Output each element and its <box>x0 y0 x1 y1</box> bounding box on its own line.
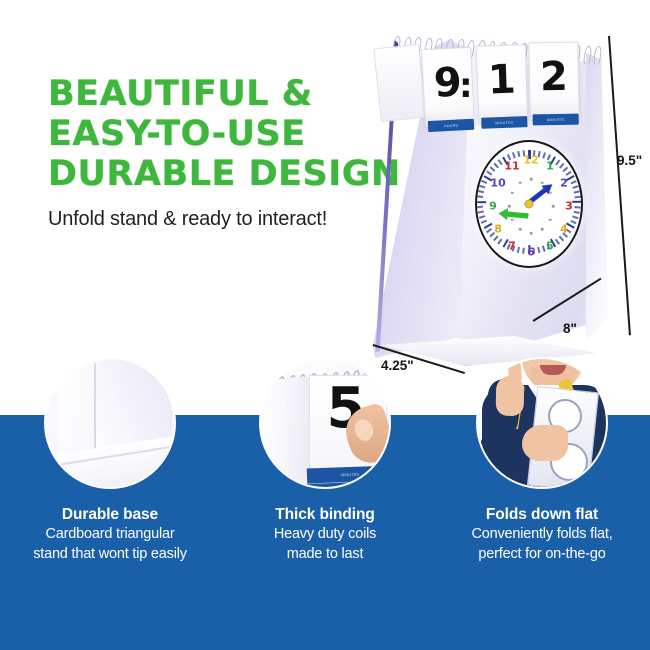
flip-card-blank <box>373 44 426 122</box>
feature-image-thick-binding: 5 MINUTES MINUTES <box>259 357 391 489</box>
top-white-panel: BEAUTIFUL & EASY-TO-USE DURABLE DESIGN U… <box>0 0 650 415</box>
headline-block: BEAUTIFUL & EASY-TO-USE DURABLE DESIGN <box>48 74 378 194</box>
clock-center-pin <box>525 200 534 209</box>
clock-minute-tick <box>574 211 580 214</box>
clock-inner-dot <box>519 181 522 184</box>
feature-thick-binding: 5 MINUTES MINUTES Thick binding Heavy du… <box>217 415 433 650</box>
feature-title: Durable base <box>2 505 218 525</box>
clock-minute-tick <box>477 196 483 198</box>
clock-minute-tick <box>559 163 564 169</box>
clock-number-10: 10 <box>490 178 505 189</box>
clock-inner-dot <box>549 218 552 221</box>
clock-minute-hand[interactable] <box>498 207 529 222</box>
clock-minute-tick <box>490 167 496 172</box>
clock-minute-tick <box>498 159 503 165</box>
feature-caption-durable-base: Durable base Cardboard triangular stand … <box>2 505 218 564</box>
clock-number-2: 2 <box>560 178 568 189</box>
clock-number-1: 1 <box>546 161 554 172</box>
clock-minute-tick <box>566 171 572 176</box>
clock-minute-tick <box>538 247 541 253</box>
feature-image-durable-base <box>44 357 176 489</box>
clock-minute-tick <box>572 201 581 203</box>
flip-card-minute-tens[interactable]: 1 MINUTES <box>476 44 529 124</box>
clock-number-8: 8 <box>494 224 502 235</box>
clock-inner-dot <box>511 191 514 194</box>
clock-minute-tick <box>542 152 545 158</box>
clock-number-4: 4 <box>560 224 568 235</box>
flip-card-tab-lower: MINUTES <box>287 481 383 489</box>
clock-inner-dot <box>508 205 511 208</box>
clock-minute-tick <box>523 248 525 254</box>
clock-number-3: 3 <box>565 201 573 212</box>
clock-minute-tick <box>571 220 577 224</box>
clock-minute-tick <box>571 180 577 184</box>
dimension-depth-label: 8" <box>563 321 577 336</box>
subheadline: Unfold stand & ready to interact! <box>48 208 327 231</box>
feature-body-line-1: Heavy duty coils <box>217 525 433 545</box>
clock-inner-dot <box>541 181 544 184</box>
clock-inner-dot <box>549 191 552 194</box>
clock-minute-tick <box>478 190 484 193</box>
headline-line-3: DURABLE DESIGN <box>48 154 378 194</box>
feature-body-line-2: perfect for on-the-go <box>434 545 650 565</box>
flip-card-minute-tens-tab: MINUTES <box>481 116 527 129</box>
feature-image-folds-flat <box>476 357 608 489</box>
clock-inner-dot <box>541 228 544 231</box>
feature-caption-folds-flat: Folds down flat Conveniently folds flat,… <box>434 505 650 564</box>
thumbs-up-icon <box>507 360 522 385</box>
clock-minute-tick <box>559 236 564 242</box>
clock-inner-dot <box>552 205 555 208</box>
clock-minute-tick <box>494 236 499 242</box>
clock-minute-tick <box>486 171 492 176</box>
clock-inner-dot <box>530 178 533 181</box>
clock-minute-tick <box>477 201 486 203</box>
clock-minute-tick <box>555 239 560 245</box>
clock-colon: : <box>459 66 473 106</box>
clock-minute-tick <box>494 163 499 169</box>
analog-clock-face[interactable]: 121234567891011 <box>475 140 583 268</box>
clock-minute-tick <box>573 215 579 218</box>
child-hand-holding <box>522 425 568 461</box>
clock-minute-tick <box>575 196 581 198</box>
feature-caption-thick-binding: Thick binding Heavy duty coils made to l… <box>217 505 433 564</box>
clock-minute-tick <box>574 190 580 193</box>
clock-minute-tick <box>478 211 484 214</box>
clock-minute-tick <box>517 151 520 157</box>
clock-minute-tick <box>498 239 503 245</box>
feature-body-line-1: Cardboard triangular <box>2 525 218 545</box>
feature-durable-base: Durable base Cardboard triangular stand … <box>2 415 218 650</box>
clock-minute-tick <box>477 206 483 208</box>
flip-card-row: 9 HOURS : 1 MINUTES 2 MINUTES <box>401 44 609 130</box>
clock-number-12: 12 <box>523 155 538 166</box>
headline-line-2: EASY-TO-USE <box>48 114 378 154</box>
feature-body-line-2: stand that wont tip easily <box>2 545 218 565</box>
clock-number-5: 5 <box>546 240 554 251</box>
clock-inner-dot <box>511 218 514 221</box>
clock-number-6: 6 <box>527 247 535 258</box>
clock-inner-dot <box>519 228 522 231</box>
clock-minute-tick <box>573 185 579 188</box>
clock-number-11: 11 <box>504 161 519 172</box>
clock-minute-tick <box>479 185 485 188</box>
clock-number-7: 7 <box>508 240 516 251</box>
clock-minute-tick <box>563 167 569 172</box>
feature-folds-flat: Folds down flat Conveniently folds flat,… <box>434 415 650 650</box>
clock-minute-tick <box>479 215 485 218</box>
clock-minute-tick <box>481 180 487 184</box>
dimension-height-label: 9.5" <box>617 153 642 168</box>
flip-card-minute-ones[interactable]: 2 MINUTES <box>528 42 579 121</box>
product-infographic: BEAUTIFUL & EASY-TO-USE DURABLE DESIGN U… <box>0 0 650 650</box>
features-blue-panel: Durable base Cardboard triangular stand … <box>0 415 650 650</box>
clock-minute-tick <box>486 228 492 233</box>
clock-minute-tick <box>555 159 560 165</box>
clock-number-9: 9 <box>489 201 497 212</box>
clock-inner-dot <box>530 232 533 235</box>
flip-card-minute-ones-tab: MINUTES <box>533 114 579 126</box>
feature-title: Thick binding <box>217 505 433 525</box>
product-photo: 9 HOURS : 1 MINUTES 2 MINUTES 121234567 <box>355 18 650 388</box>
thumbs-up-hand <box>496 376 525 416</box>
flip-card-minute-tens-digit: 1 <box>487 60 516 101</box>
flip-card-minute-ones-digit: 2 <box>540 57 569 97</box>
headline-line-1: BEAUTIFUL & <box>48 74 378 114</box>
clock-minute-tick <box>575 206 581 208</box>
feature-body-line-1: Conveniently folds flat, <box>434 525 650 545</box>
feature-body-line-2: made to last <box>217 545 433 565</box>
stand-fold-crease <box>94 363 96 459</box>
feature-title: Folds down flat <box>434 505 650 525</box>
clock-minute-tick <box>512 152 515 158</box>
clock-minute-tick <box>481 220 487 224</box>
clock-minute-tick <box>517 247 520 253</box>
